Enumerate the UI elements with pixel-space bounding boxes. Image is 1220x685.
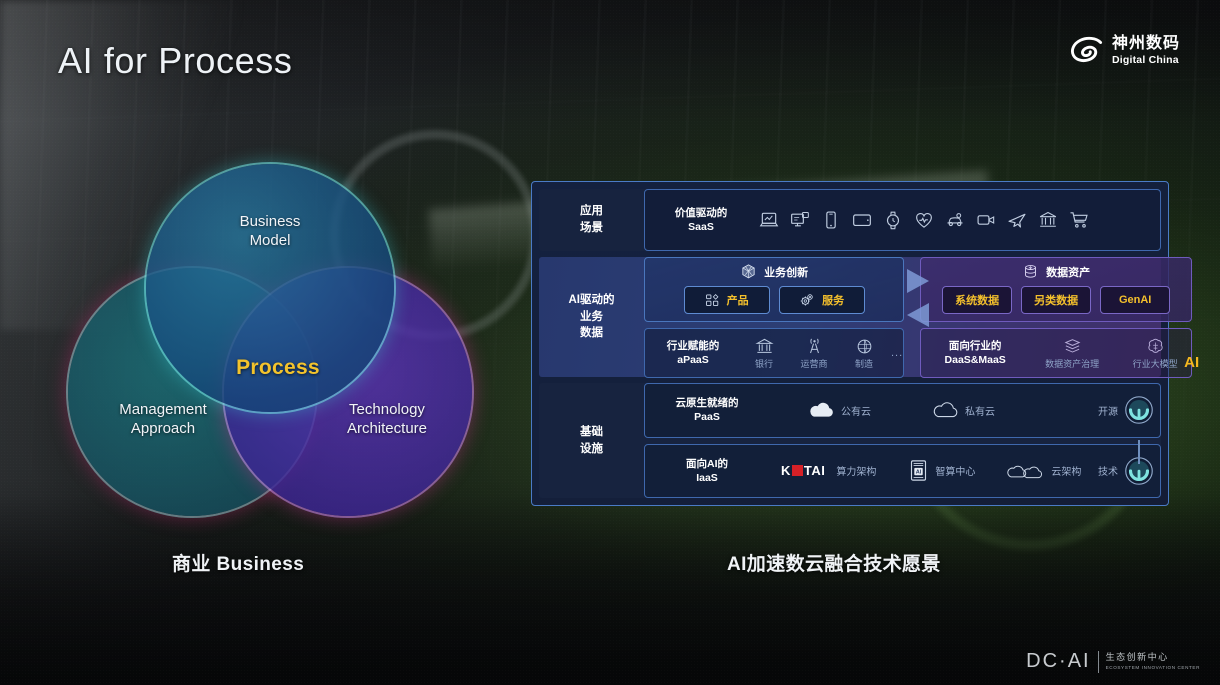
- gear-globe-icon: [855, 337, 874, 356]
- chip-system-data[interactable]: 系统数据: [942, 286, 1012, 314]
- daas-item-data-governance[interactable]: 数据资产治理: [1039, 337, 1105, 370]
- ai-server-rack-icon: AI: [908, 459, 929, 482]
- row-label-value-driven-saas: 价值驱动的 SaaS: [645, 206, 753, 234]
- row-label-line1: 价值驱动的: [649, 206, 753, 220]
- heartbeat-icon[interactable]: [914, 210, 934, 230]
- footer-logo-cn: 生态创新中心: [1106, 653, 1200, 663]
- apaas-industry-items: 银行 运营商: [741, 337, 903, 370]
- industry-llm-ai-badge: AI: [1184, 354, 1199, 371]
- business-innovation-chips: 产品 服务: [653, 286, 895, 314]
- venn-label-line1: Business: [208, 212, 332, 231]
- row-ai-oriented-iaas[interactable]: 面向AI的 IaaS K TAI 算力架构 A: [644, 444, 1161, 499]
- band-label-line2: 设施: [580, 441, 603, 458]
- band-label-ai-driven-business-data: AI驱动的 业务 数据: [539, 257, 644, 377]
- footer-logo-en: ECOSYSTEM INNOVATION CENTER: [1106, 665, 1200, 670]
- bank-icon[interactable]: [1038, 210, 1058, 230]
- kuntai-brand-logo: K TAI: [781, 463, 825, 478]
- tablet-icon[interactable]: [852, 210, 872, 230]
- venn-center-label: Process: [204, 356, 352, 380]
- chip-label: 系统数据: [955, 292, 999, 308]
- kuntai-red-block: [792, 465, 803, 476]
- cloud-architecture-item[interactable]: 云架构: [1005, 461, 1081, 481]
- intelligent-computing-center-item[interactable]: AI 智算中心: [908, 459, 975, 482]
- database-cylinder-icon: [1022, 263, 1039, 280]
- band-application-scenarios: 应用 场景 价值驱动的 SaaS: [539, 189, 1161, 251]
- band-infrastructure: 基础 设施 云原生就绪的 PaaS 公有云: [539, 383, 1161, 498]
- business-innovation-top[interactable]: 业务创新 产品: [644, 257, 904, 322]
- business-innovation-header: 业务创新: [740, 263, 808, 280]
- venn-label-line2: Model: [208, 231, 332, 250]
- private-cloud-item[interactable]: 私有云: [931, 400, 995, 420]
- compute-architecture-label: 算力架构: [836, 463, 876, 478]
- page-title: AI for Process: [58, 40, 292, 82]
- row-label-industry-apaas: 行业赋能的 aPaaS: [645, 339, 741, 367]
- chip-alternative-data[interactable]: 另类数据: [1021, 286, 1091, 314]
- row-label-line2: PaaS: [651, 410, 763, 424]
- row-industry-daas-maas[interactable]: 面向行业的 DaaS&MaaS 数据资产治理: [920, 328, 1192, 378]
- smartphone-icon[interactable]: [821, 210, 841, 230]
- venn-label-line2: Approach: [88, 419, 238, 438]
- footer-logo-dc-ai: DC·AI 生态创新中心 ECOSYSTEM INNOVATION CENTER: [1026, 650, 1200, 673]
- row-industry-apaas[interactable]: 行业赋能的 aPaaS 银行: [644, 328, 904, 378]
- band-label-line1: AI驱动的: [569, 292, 615, 309]
- brand-name-en: Digital China: [1112, 55, 1180, 66]
- chip-product[interactable]: 产品: [684, 286, 770, 314]
- row-label-line1: 面向AI的: [651, 457, 763, 471]
- chip-genai[interactable]: GenAI: [1100, 286, 1170, 314]
- data-assets-chips: 系统数据 另类数据 GenAI: [929, 286, 1183, 314]
- row-label-line1: 行业赋能的: [645, 339, 741, 353]
- spiral-galaxy-logo-icon: [1070, 36, 1104, 66]
- vehicle-icon[interactable]: [945, 210, 965, 230]
- band-label-line1: 基础: [580, 424, 603, 441]
- chip-label: 服务: [822, 292, 844, 308]
- band-label-line2: 业务: [569, 309, 615, 326]
- desktop-monitor-icon[interactable]: [790, 210, 810, 230]
- video-camera-icon[interactable]: [976, 210, 996, 230]
- row-label-line2: aPaaS: [645, 353, 741, 367]
- data-assets-title: 数据资产: [1046, 264, 1090, 280]
- ai-badge-text: AI: [916, 470, 922, 476]
- chip-service[interactable]: 服务: [779, 286, 865, 314]
- brand-name-cn: 神州数码: [1112, 36, 1180, 52]
- band-label-line3: 数据: [569, 325, 615, 342]
- daas-item-industry-llm[interactable]: 行业大模型 AI: [1119, 337, 1191, 370]
- shopping-cart-icon[interactable]: [1069, 210, 1089, 230]
- public-cloud-item[interactable]: 公有云: [807, 400, 871, 420]
- band-label-infrastructure: 基础 设施: [539, 383, 644, 498]
- chip-label: 另类数据: [1034, 292, 1078, 308]
- venn-label-line2: Architecture: [312, 419, 462, 438]
- apaas-item-label: 制造: [855, 357, 873, 370]
- open-source-tail[interactable]: 开源: [1098, 395, 1154, 425]
- apaas-item-label: 运营商: [800, 357, 827, 370]
- brand-logo: 神州数码 Digital China: [1070, 36, 1180, 66]
- row-cloud-native-paas[interactable]: 云原生就绪的 PaaS 公有云 私有云 开源: [644, 383, 1161, 438]
- daas-item-label: 行业大模型: [1133, 357, 1178, 370]
- antenna-signal-icon: [805, 337, 824, 356]
- kuntai-prefix: K: [781, 463, 791, 478]
- row-label-line2: SaaS: [649, 220, 753, 234]
- venn-label-technology-architecture: Technology Architecture: [312, 400, 462, 438]
- bidirectional-arrows-icon: [901, 263, 935, 335]
- row-label-ai-oriented-iaas: 面向AI的 IaaS: [651, 457, 763, 485]
- row-label-line2: DaaS&MaaS: [921, 353, 1029, 367]
- data-assets-top[interactable]: 数据资产 系统数据 另类数据 GenAI: [920, 257, 1192, 322]
- technology-label: 技术: [1098, 463, 1118, 478]
- row-label-line2: IaaS: [651, 471, 763, 485]
- cloud-architecture-label: 云架构: [1051, 463, 1081, 478]
- panel-business-innovation: 业务创新 产品: [644, 257, 904, 378]
- row-value-driven-saas[interactable]: 价值驱动的 SaaS: [644, 189, 1161, 251]
- multi-cloud-icon: [1005, 461, 1045, 481]
- kuntai-item[interactable]: K TAI 算力架构: [781, 463, 876, 478]
- chip-label: GenAI: [1119, 294, 1151, 306]
- band-ai-driven-business-data: AI驱动的 业务 数据 业务创新: [539, 257, 1161, 377]
- footer-logo-mark: DC·AI: [1026, 650, 1090, 673]
- kuntai-suffix: TAI: [804, 463, 825, 478]
- cloud-filled-icon: [807, 400, 835, 420]
- band-label-application-scenarios: 应用 场景: [539, 189, 644, 251]
- bank-columns-icon: [755, 337, 774, 356]
- daas-item-label: 数据资产治理: [1045, 357, 1099, 370]
- data-assets-header: 数据资产: [1022, 263, 1090, 280]
- apaas-item-bank[interactable]: 银行: [741, 337, 787, 370]
- architecture-panel: 应用 场景 价值驱动的 SaaS: [531, 181, 1169, 506]
- daas-maas-items: 数据资产治理 行业大模型 AI: [1029, 337, 1191, 370]
- intelligent-computing-label: 智算中心: [935, 463, 975, 478]
- business-innovation-title: 业务创新: [764, 264, 808, 280]
- smartwatch-icon[interactable]: [883, 210, 903, 230]
- cloud-outline-icon: [931, 400, 959, 420]
- venn-diagram: Business Model Management Approach Techn…: [60, 160, 480, 520]
- blocks-icon: [705, 293, 720, 308]
- venn-label-line1: Management: [88, 400, 238, 419]
- open-source-label: 开源: [1098, 403, 1118, 418]
- innovation-and-data-row: 业务创新 产品: [644, 257, 1192, 378]
- apaas-item-telecom[interactable]: 运营商: [791, 337, 837, 370]
- footer-logo-divider: [1098, 651, 1099, 673]
- venn-label-line1: Technology: [312, 400, 462, 419]
- caption-business: 商业 Business: [172, 549, 304, 576]
- laptop-chart-icon[interactable]: [759, 210, 779, 230]
- apaas-more-dots: ...: [891, 347, 903, 359]
- band-label-line1: 应用: [580, 203, 603, 220]
- scenario-icon-row: [753, 210, 1089, 230]
- apaas-item-label: 银行: [755, 357, 773, 370]
- venn-label-management-approach: Management Approach: [88, 400, 238, 438]
- chip-label: 产品: [727, 292, 749, 308]
- layered-data-icon: [1063, 337, 1082, 356]
- band-label-line2: 场景: [580, 220, 603, 237]
- brain-circuit-icon: [1146, 337, 1165, 356]
- technology-tail[interactable]: 技术: [1098, 456, 1154, 486]
- open-source-connector-line: [1138, 440, 1140, 464]
- row-label-line1: 云原生就绪的: [651, 396, 763, 410]
- row-label-cloud-native-paas: 云原生就绪的 PaaS: [651, 396, 763, 424]
- open-source-ring-icon: [1124, 395, 1154, 425]
- polyhedron-cube-icon: [740, 263, 757, 280]
- public-cloud-label: 公有云: [841, 403, 871, 418]
- apaas-item-manufacturing[interactable]: 制造: [841, 337, 887, 370]
- airplane-icon[interactable]: [1007, 210, 1027, 230]
- private-cloud-label: 私有云: [965, 403, 995, 418]
- venn-label-business-model: Business Model: [208, 212, 332, 250]
- row-label-daas-maas: 面向行业的 DaaS&MaaS: [921, 339, 1029, 367]
- caption-architecture: AI加速数云融合技术愿景: [727, 549, 941, 576]
- gears-icon: [799, 292, 815, 308]
- row-label-line1: 面向行业的: [921, 339, 1029, 353]
- panel-data-assets: 数据资产 系统数据 另类数据 GenAI: [920, 257, 1192, 378]
